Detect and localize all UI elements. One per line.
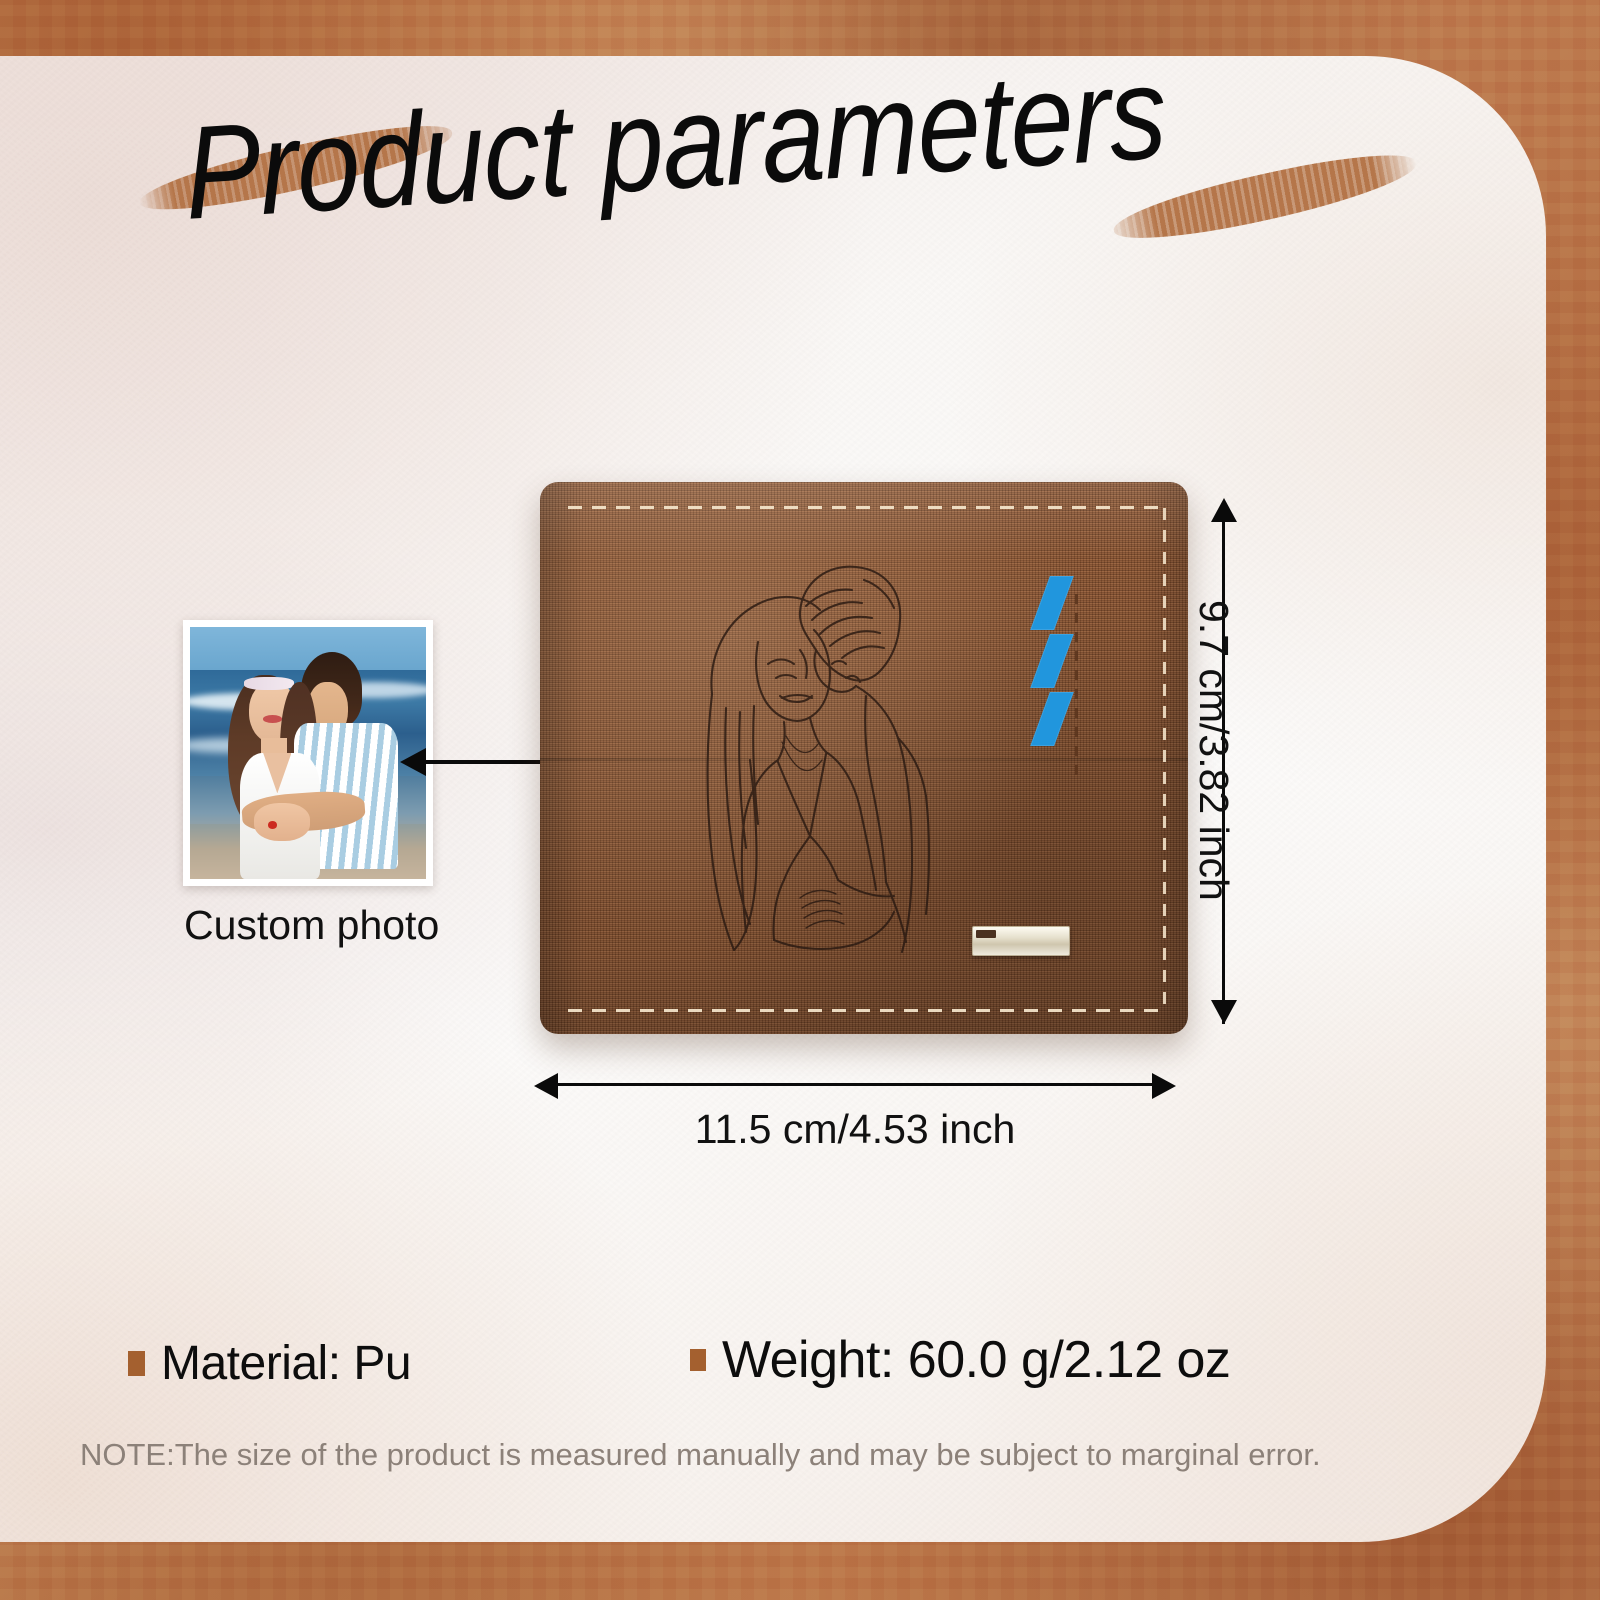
- arrow-down-icon: [1211, 1000, 1237, 1024]
- disclaimer-note: NOTE:The size of the product is measured…: [80, 1437, 1321, 1473]
- product-wallet: [540, 482, 1188, 1034]
- width-dimension-label: 11.5 cm/4.53 inch: [550, 1106, 1160, 1153]
- arrow-left-icon: [400, 748, 426, 776]
- spec-weight-label: Weight: 60.0 g/2.12 oz: [722, 1330, 1230, 1390]
- stitching-top: [568, 506, 1164, 509]
- height-dimension-label: 9.7 cm/3.82 inch: [1190, 600, 1237, 901]
- spec-material-label: Material: Pu: [161, 1336, 411, 1391]
- infographic-canvas: Product parameters Custom photo: [0, 0, 1600, 1600]
- photo-nails: [268, 821, 277, 829]
- page-title-group: Product parameters: [130, 118, 1420, 278]
- arrow-right-icon: [1152, 1073, 1176, 1099]
- metal-clip: [972, 926, 1070, 956]
- bullet-square-icon: [128, 1351, 145, 1376]
- engraved-portrait: [650, 546, 980, 978]
- custom-photo-image: [190, 627, 426, 879]
- photo-hands: [254, 803, 311, 841]
- arrow-left-icon: [534, 1073, 558, 1099]
- stitching-right: [1163, 508, 1166, 1008]
- arrow-up-icon: [1211, 498, 1237, 522]
- stitching-bottom: [568, 1009, 1164, 1012]
- bullet-square-icon: [690, 1349, 706, 1371]
- photo-woman-smile: [263, 715, 282, 723]
- spec-weight: Weight: 60.0 g/2.12 oz: [690, 1330, 1230, 1390]
- spec-material: Material: Pu: [128, 1336, 411, 1391]
- stitching-inner: [1075, 594, 1078, 780]
- custom-photo-frame: [183, 620, 433, 886]
- width-dimension-line: [550, 1083, 1158, 1086]
- photo-sky: [190, 627, 426, 670]
- photo-woman-headband: [244, 677, 294, 690]
- custom-photo-label: Custom photo: [184, 902, 439, 949]
